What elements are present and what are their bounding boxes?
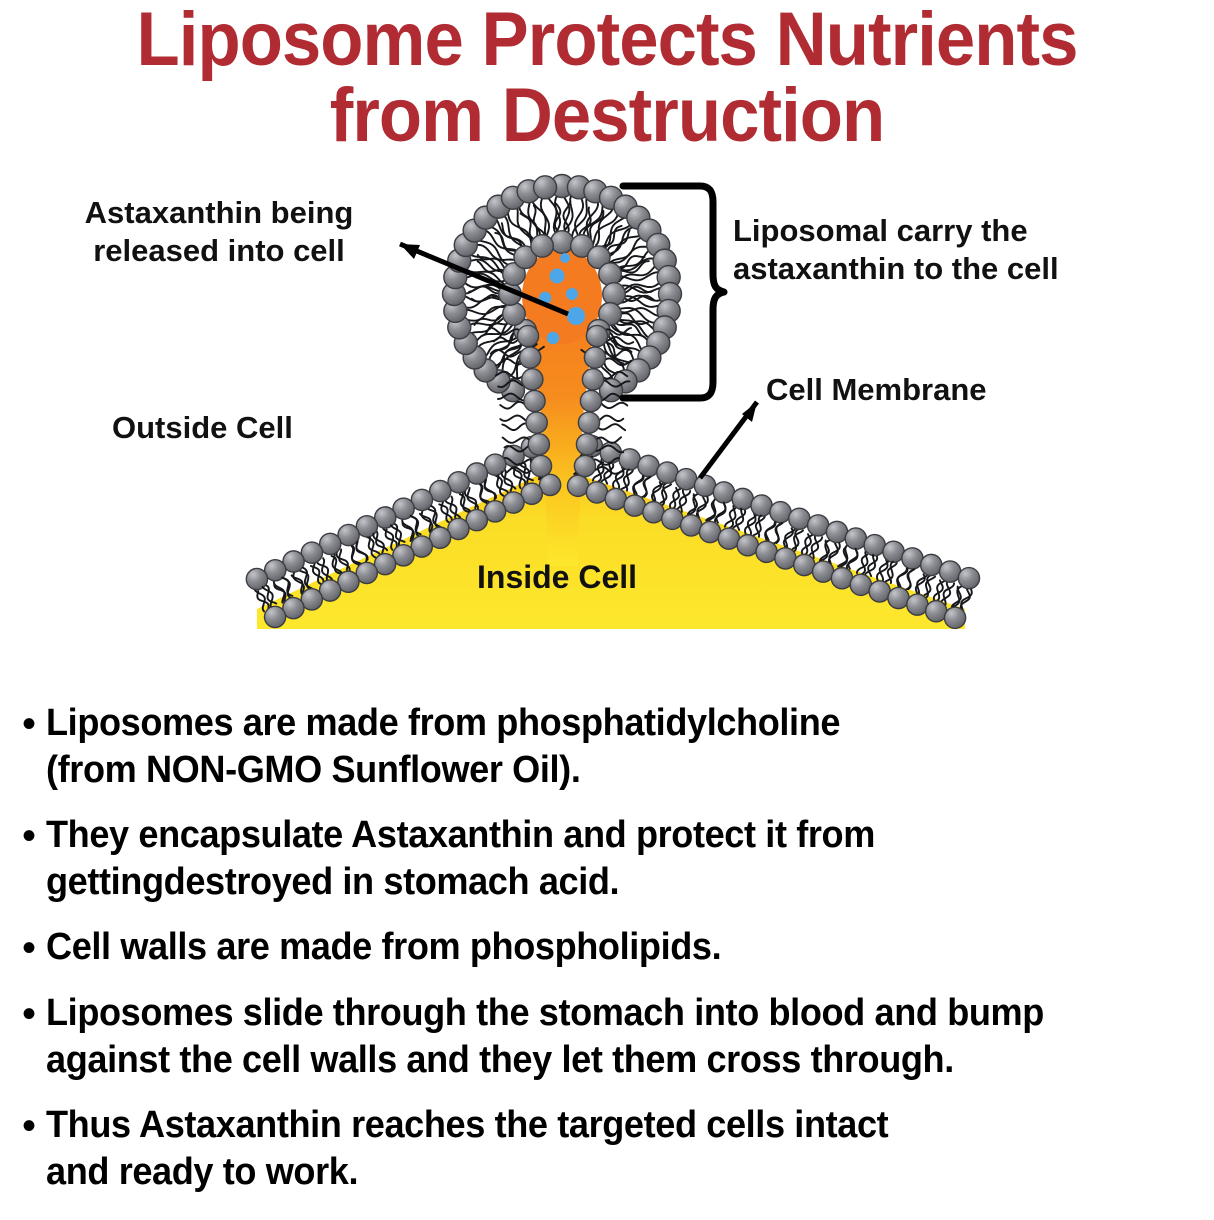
bullet-text: Liposomes are made from phosphatidylchol…: [46, 700, 840, 794]
page-title: Liposome Protects Nutrients from Destruc…: [0, 0, 1214, 154]
bullet-marker: •: [0, 990, 46, 1038]
list-item: • Cell walls are made from phospholipids…: [0, 924, 1214, 972]
bullet-marker: •: [0, 1102, 46, 1150]
list-item: • Liposomes slide through the stomach in…: [0, 990, 1214, 1084]
list-item: • Thus Astaxanthin reaches the targeted …: [0, 1102, 1214, 1196]
label-liposomal-carry: Liposomal carry the astaxanthin to the c…: [733, 212, 1153, 288]
title-line-1: Liposome Protects Nutrients: [42, 2, 1171, 78]
bullet-marker: •: [0, 812, 46, 860]
label-cell-membrane: Cell Membrane: [766, 371, 987, 409]
liposome-cell-diagram: Astaxanthin being released into cell Lip…: [0, 166, 1214, 666]
bullet-text: Liposomes slide through the stomach into…: [46, 990, 1044, 1084]
bullet-text: They encapsulate Astaxanthin and protect…: [46, 812, 875, 906]
label-astaxanthin-released: Astaxanthin being released into cell: [44, 194, 394, 270]
title-line-2: from Destruction: [42, 78, 1171, 154]
label-outside-cell: Outside Cell: [112, 409, 293, 447]
arrow-membrane-icon: [700, 402, 757, 478]
bullet-marker: •: [0, 924, 46, 972]
bullet-marker: •: [0, 700, 46, 748]
bullet-list: • Liposomes are made from phosphatidylch…: [0, 700, 1214, 1214]
list-item: • Liposomes are made from phosphatidylch…: [0, 700, 1214, 794]
list-item: • They encapsulate Astaxanthin and prote…: [0, 812, 1214, 906]
label-inside-cell: Inside Cell: [477, 558, 637, 596]
bullet-text: Cell walls are made from phospholipids.: [46, 924, 721, 971]
bullet-text: Thus Astaxanthin reaches the targeted ce…: [46, 1102, 888, 1196]
